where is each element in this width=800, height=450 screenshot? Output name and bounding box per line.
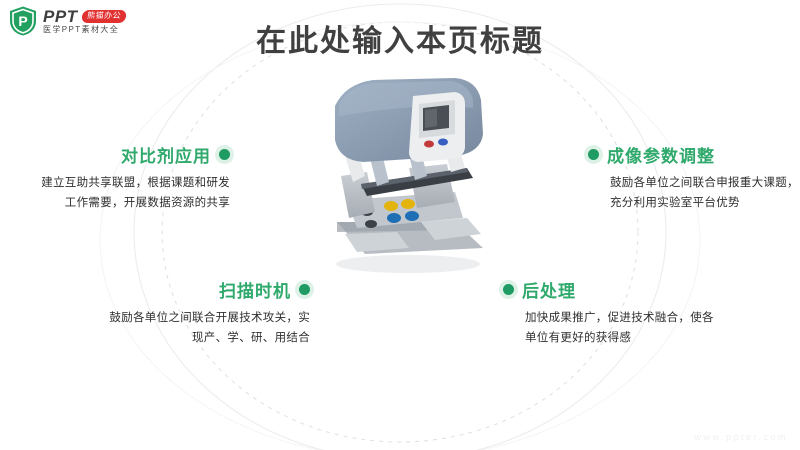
pedal-button-yellow-2 <box>401 199 415 209</box>
callout-scan[interactable]: 扫描时机 鼓励各单位之间联合开展技术攻关，实现产、学、研、用结合 <box>95 277 310 349</box>
device-screen-glare <box>425 109 437 129</box>
slide-canvas: P PPT 熊猫办公 医学PPT素材大全 在此处输入本页标题 <box>0 0 800 450</box>
device-shadow <box>336 255 480 273</box>
callout-post[interactable]: 后处理 加快成果推广，促进技术融合，使各单位有更好的获得感 <box>503 277 718 349</box>
pedal-button-blue-1 <box>387 213 401 223</box>
callout-contrast[interactable]: 对比剂应用 建立互助共享联盟，根据课题和研发工作需要，开展数据资源的共享 <box>15 142 230 214</box>
callout-contrast-heading: 对比剂应用 <box>121 142 211 167</box>
callout-imaging[interactable]: 成像参数调整 鼓励各单位之间联合申报重大课题，充分利用实验室平台优势 <box>588 142 800 214</box>
callout-imaging-body: 鼓励各单位之间联合申报重大课题，充分利用实验室平台优势 <box>588 174 800 214</box>
bullet-dot-icon <box>503 284 514 295</box>
pedal-button-blue-2 <box>405 211 419 221</box>
callout-imaging-heading-row: 成像参数调整 <box>588 142 800 167</box>
callout-contrast-body: 建立互助共享联盟，根据课题和研发工作需要，开展数据资源的共享 <box>15 174 230 214</box>
callout-imaging-heading: 成像参数调整 <box>607 142 715 167</box>
callout-scan-heading-row: 扫描时机 <box>95 277 310 302</box>
callout-contrast-heading-row: 对比剂应用 <box>15 142 230 167</box>
callout-post-heading-row: 后处理 <box>503 277 718 302</box>
surgical-robot-console-image <box>305 72 510 277</box>
page-title: 在此处输入本页标题 <box>0 16 800 60</box>
callout-post-heading: 后处理 <box>522 277 576 302</box>
bullet-dot-icon <box>219 149 230 160</box>
callout-post-body: 加快成果推广，促进技术融合，使各单位有更好的获得感 <box>503 309 718 349</box>
callout-scan-body: 鼓励各单位之间联合开展技术攻关，实现产、学、研、用结合 <box>95 309 310 349</box>
device-indicator-blue <box>438 139 448 146</box>
bullet-dot-icon <box>299 284 310 295</box>
bullet-dot-icon <box>588 149 599 160</box>
footer-watermark: www.ppter.com <box>694 432 788 442</box>
device-indicator-red <box>424 141 434 148</box>
callout-scan-heading: 扫描时机 <box>219 277 291 302</box>
pedal-button-dark-2 <box>365 220 377 228</box>
pedal-button-yellow-1 <box>384 201 398 211</box>
